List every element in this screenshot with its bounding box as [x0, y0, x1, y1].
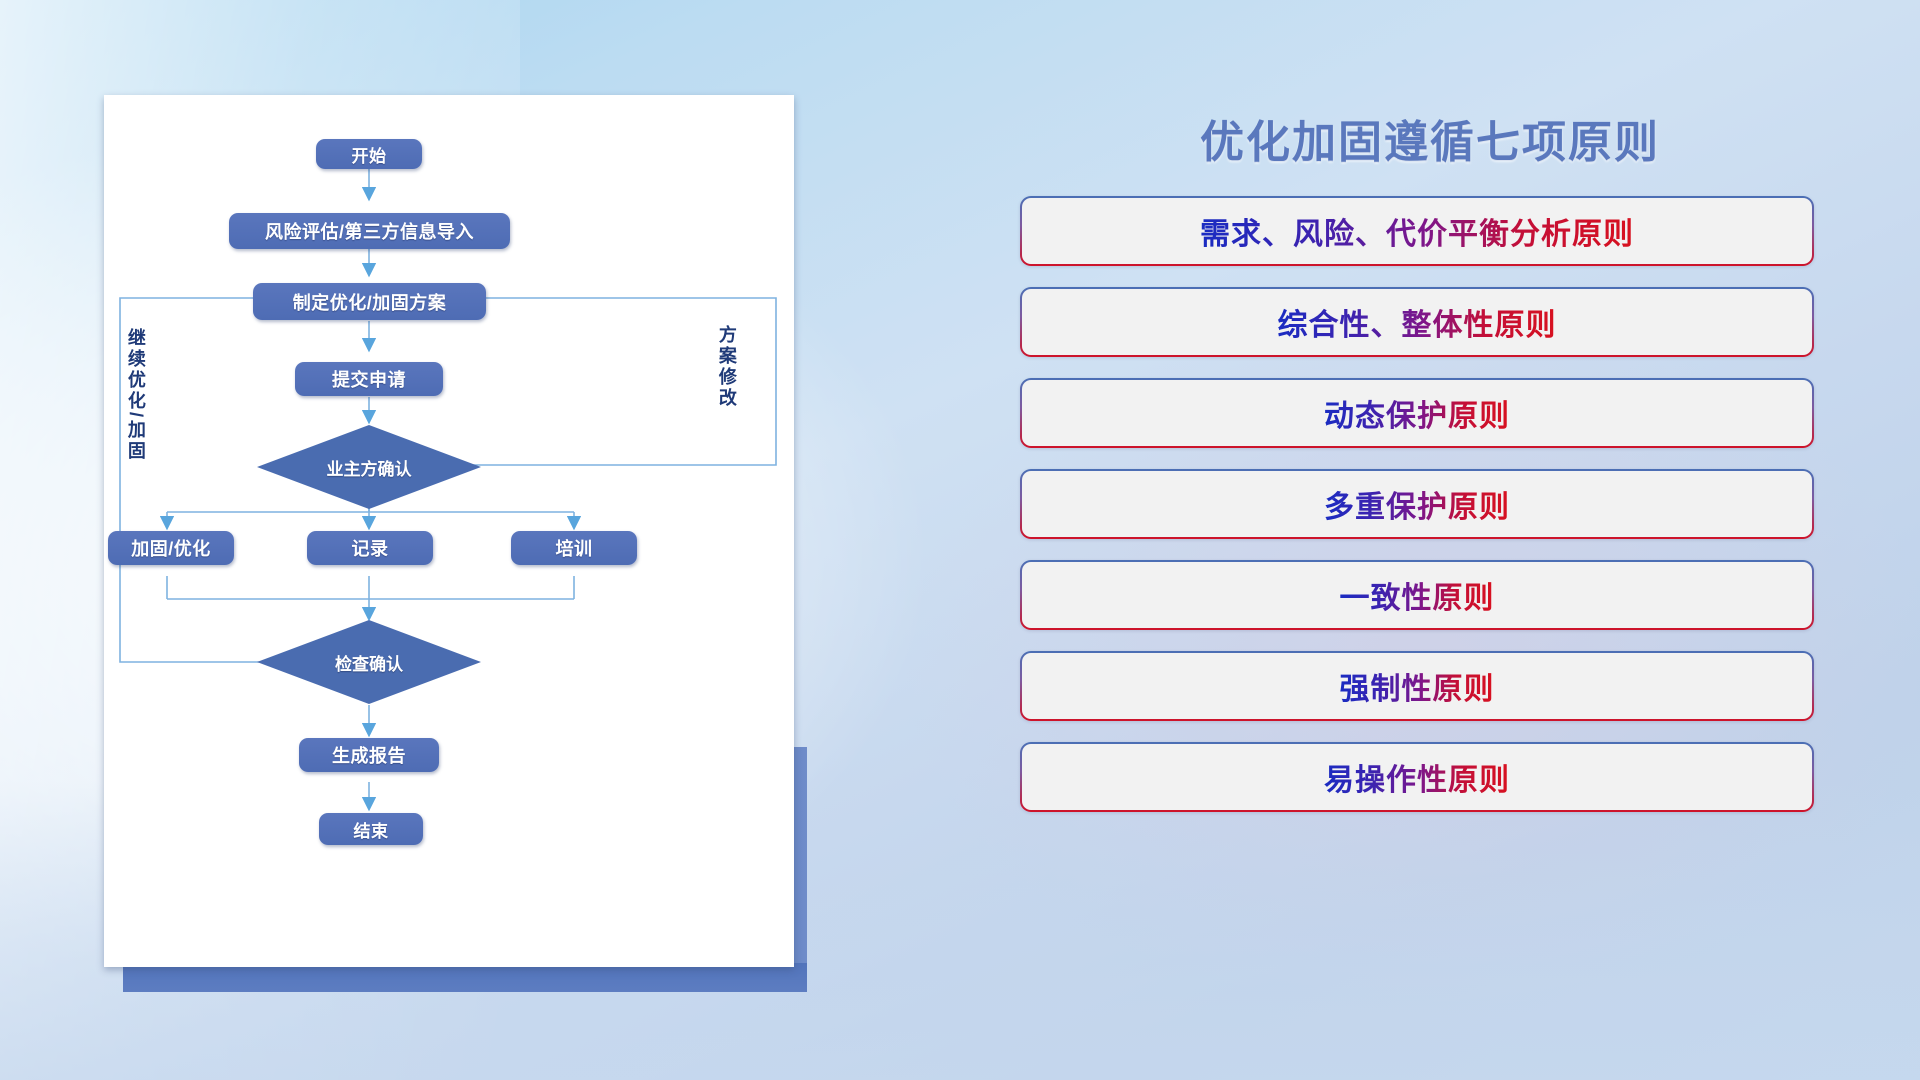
flow-node-start[interactable]: 开始	[316, 139, 422, 169]
principle-item[interactable]: 动态保护原则	[1020, 378, 1814, 448]
principle-item[interactable]: 强制性原则	[1020, 651, 1814, 721]
flow-node-record-label: 记录	[352, 535, 389, 561]
flow-decision-check-confirm[interactable]: 检查确认	[257, 620, 481, 704]
principle-item-label: 一致性原则	[1340, 573, 1495, 617]
principle-item-label: 强制性原则	[1340, 664, 1495, 708]
flow-node-end-label: 结束	[354, 817, 389, 842]
panel-title: 优化加固遵循七项原则	[1020, 106, 1840, 170]
flow-node-training[interactable]: 培训	[511, 531, 637, 565]
principle-item-label: 综合性、整体性原则	[1278, 300, 1557, 344]
flow-node-start-label: 开始	[352, 142, 387, 167]
principle-item-label: 动态保护原则	[1324, 391, 1510, 435]
principle-item-label: 易操作性原则	[1324, 755, 1510, 799]
principle-item[interactable]: 易操作性原则	[1020, 742, 1814, 812]
flow-node-training-label: 培训	[556, 535, 593, 561]
principle-item[interactable]: 一致性原则	[1020, 560, 1814, 630]
principle-item-label: 需求、风险、代价平衡分析原则	[1200, 209, 1634, 253]
flow-node-reinforce[interactable]: 加固/优化	[108, 531, 234, 565]
flow-node-record[interactable]: 记录	[307, 531, 433, 565]
flow-node-end[interactable]: 结束	[319, 813, 423, 845]
principle-item[interactable]: 多重保护原则	[1020, 469, 1814, 539]
flow-node-plan-label: 制定优化/加固方案	[293, 289, 447, 315]
card-accent-shape-horizontal	[123, 963, 807, 992]
principle-item[interactable]: 综合性、整体性原则	[1020, 287, 1814, 357]
flow-node-generate-report[interactable]: 生成报告	[299, 738, 439, 772]
flow-node-risk-assessment-label: 风险评估/第三方信息导入	[265, 218, 474, 244]
flow-node-plan[interactable]: 制定优化/加固方案	[253, 283, 486, 320]
flow-node-risk-assessment[interactable]: 风险评估/第三方信息导入	[229, 213, 510, 249]
flow-node-submit-application-label: 提交申请	[332, 366, 406, 392]
flow-decision-owner-confirm[interactable]: 业主方确认	[257, 425, 481, 509]
flowchart-card: 开始 风险评估/第三方信息导入 制定优化/加固方案 提交申请 业主方确认 加固/…	[104, 95, 794, 967]
principles-panel: 优化加固遵循七项原则 需求、风险、代价平衡分析原则 综合性、整体性原则 动态保护…	[1020, 88, 1840, 1028]
principle-item-label: 多重保护原则	[1324, 482, 1510, 526]
principle-item[interactable]: 需求、风险、代价平衡分析原则	[1020, 196, 1814, 266]
flow-node-submit-application[interactable]: 提交申请	[295, 362, 443, 396]
flow-edge-label-continue-optimize: 继续优化/加固	[126, 328, 145, 488]
flow-node-reinforce-label: 加固/优化	[131, 535, 211, 561]
flow-edge-label-plan-revision: 方案修改	[717, 325, 736, 445]
flow-node-generate-report-label: 生成报告	[332, 742, 406, 768]
